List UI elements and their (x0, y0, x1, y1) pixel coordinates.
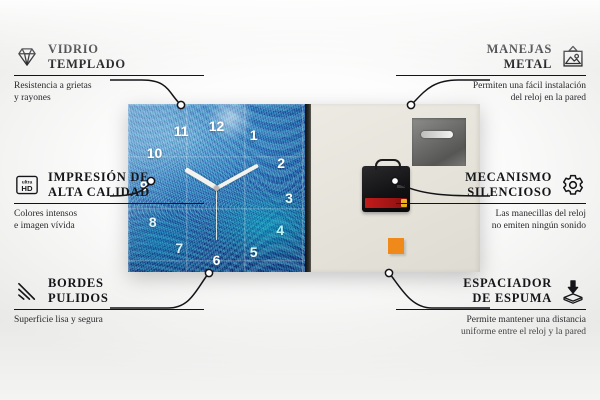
title-line-2: DE ESPUMA (463, 291, 552, 306)
numeral-5: 5 (250, 245, 258, 259)
clock-pivot (214, 186, 219, 191)
ultra-hd-icon: ultra HD (14, 172, 40, 198)
desc-line-1: Permite mantener una distancia (396, 314, 586, 327)
callout-rule (14, 309, 204, 310)
callout-silent-mechanism: MECANISMO SILENCIOSO Las manecillas del … (396, 170, 586, 233)
callout-description: Permiten una fácil instalación del reloj… (396, 80, 586, 105)
desc-line-1: Colores intensos (14, 208, 204, 221)
callout-rule (14, 75, 204, 76)
numeral-10: 10 (147, 146, 163, 160)
callout-description: Resistencia a grietas y rayones (14, 80, 204, 105)
callout-tempered-glass: VIDRIO TEMPLADO Resistencia a grietas y … (14, 42, 204, 105)
callout-rule (14, 203, 204, 204)
desc-line-2: uniforme entre el reloj y la pared (396, 326, 586, 339)
callout-title: IMPRESIÓN DE ALTA CALIDAD (48, 170, 150, 200)
desc-line-1: Resistencia a grietas (14, 80, 204, 93)
callout-title: MANEJAS METAL (487, 42, 552, 72)
title-line-1: MANEJAS (487, 42, 552, 57)
polished-edges-icon (14, 278, 40, 304)
numeral-1: 1 (250, 128, 258, 142)
hanger-slot (421, 131, 453, 138)
title-line-2: TEMPLADO (48, 57, 126, 72)
callout-title: BORDES PULIDOS (48, 276, 108, 306)
callout-rule (396, 309, 586, 310)
infographic-canvas: 12 1 2 3 4 5 6 7 8 9 10 11 (0, 0, 600, 400)
desc-line-1: Las manecillas del reloj (396, 208, 586, 221)
gear-icon (560, 172, 586, 198)
numeral-4: 4 (276, 223, 284, 237)
callout-description: Superficie lisa y segura (14, 314, 204, 327)
desc-line-2: y rayones (14, 92, 204, 105)
foam-spacer-icon (560, 278, 586, 304)
callout-metal-hooks: MANEJAS METAL Permiten una fácil instala… (396, 42, 586, 105)
title-line-1: BORDES (48, 276, 108, 291)
callout-rule (396, 75, 586, 76)
desc-line-1: Superficie lisa y segura (14, 314, 204, 327)
numeral-7: 7 (175, 241, 183, 255)
foam-spacer (388, 238, 404, 254)
numeral-12: 12 (209, 119, 225, 133)
title-line-2: PULIDOS (48, 291, 108, 306)
clock-minute-hand (216, 163, 259, 189)
title-line-1: ESPACIADOR (463, 276, 552, 291)
callout-description: Colores intensos e imagen vívida (14, 208, 204, 233)
callout-polished-edges: BORDES PULIDOS Superficie lisa y segura (14, 276, 204, 326)
numeral-2: 2 (277, 156, 285, 170)
desc-line-2: del reloj en la pared (396, 92, 586, 105)
title-line-2: METAL (487, 57, 552, 72)
callout-title: MECANISMO SILENCIOSO (465, 170, 552, 200)
callout-description: Las manecillas del reloj no emiten ningú… (396, 208, 586, 233)
mechanism-hanger-loop (375, 159, 401, 170)
callout-foam-spacer: ESPACIADOR DE ESPUMA Permite mantener un… (396, 276, 586, 339)
svg-text:HD: HD (21, 184, 33, 193)
title-line-2: SILENCIOSO (465, 185, 552, 200)
callout-title: VIDRIO TEMPLADO (48, 42, 126, 72)
title-line-1: VIDRIO (48, 42, 126, 57)
title-line-2: ALTA CALIDAD (48, 185, 150, 200)
numeral-6: 6 (213, 253, 221, 267)
numeral-11: 11 (174, 124, 189, 138)
callout-hd-printing: ultra HD IMPRESIÓN DE ALTA CALIDAD Color… (14, 170, 204, 233)
picture-frame-icon (560, 44, 586, 70)
desc-line-2: e imagen vívida (14, 220, 204, 233)
title-line-1: MECANISMO (465, 170, 552, 185)
callout-title: ESPACIADOR DE ESPUMA (463, 276, 552, 306)
metal-hanger (412, 118, 466, 166)
callout-rule (396, 203, 586, 204)
numeral-3: 3 (285, 191, 293, 205)
clock-second-hand (216, 188, 218, 240)
desc-line-1: Permiten una fácil instalación (396, 80, 586, 93)
desc-line-2: no emiten ningún sonido (396, 220, 586, 233)
title-line-1: IMPRESIÓN DE (48, 170, 150, 185)
diamond-icon (14, 44, 40, 70)
callout-description: Permite mantener una distancia uniforme … (396, 314, 586, 339)
